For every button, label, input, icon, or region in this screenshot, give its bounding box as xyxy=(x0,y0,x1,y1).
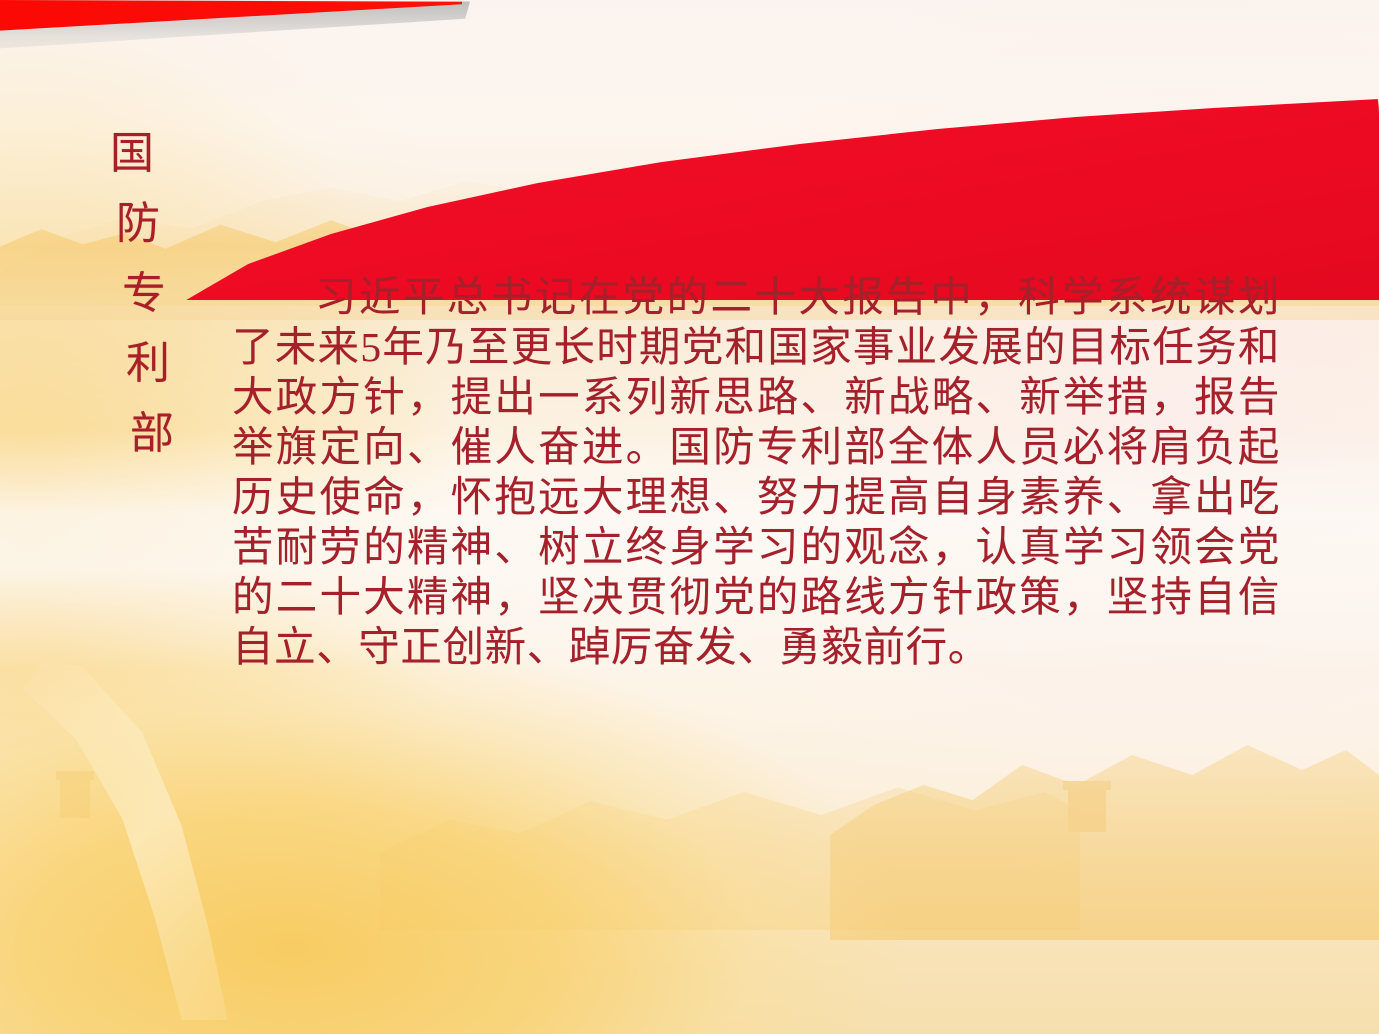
title-char-5: 部 xyxy=(130,412,218,456)
watchtower-icon xyxy=(690,230,716,266)
title-char-1: 国 xyxy=(110,132,218,176)
great-wall-path xyxy=(10,660,340,1020)
watchtower-icon xyxy=(60,780,90,818)
watchtower-icon xyxy=(418,222,452,266)
top-red-ribbon xyxy=(0,0,462,60)
top-ribbon-shadow xyxy=(0,0,470,78)
watchtower-icon xyxy=(880,236,902,266)
watchtower-icon xyxy=(1068,790,1106,832)
title-char-4: 利 xyxy=(126,342,218,386)
body-paragraph: 习近平总书记在党的二十大报告中，科学系统谋划了未来5年乃至更长时期党和国家事业发… xyxy=(232,272,1280,672)
body-paragraph-block: 习近平总书记在党的二十大报告中，科学系统谋划了未来5年乃至更长时期党和国家事业发… xyxy=(232,272,1280,672)
slide-canvas: 国 防 专 利 部 习近平总书记在党的二十大报告中，科学系统谋划了未来5年乃至更… xyxy=(0,0,1379,1034)
watchtower-icon xyxy=(1244,234,1264,264)
title-char-2: 防 xyxy=(116,202,218,246)
lower-left-mountain-massif xyxy=(0,612,970,1034)
vertical-title: 国 防 专 利 部 xyxy=(108,132,218,456)
watchtower-icon xyxy=(1074,228,1098,264)
title-char-3: 专 xyxy=(122,272,218,316)
mid-mountain-ridge xyxy=(380,700,1080,930)
